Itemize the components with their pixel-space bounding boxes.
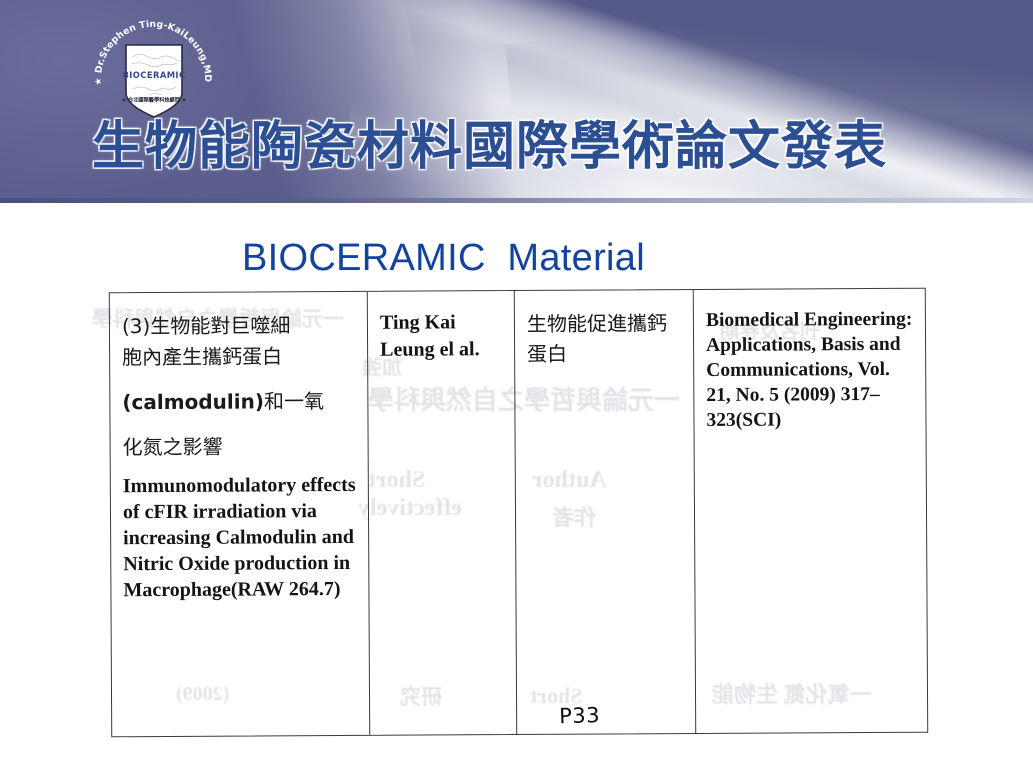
- journal-citation-text: Biomedical Engineering: Applications, Ba…: [706, 307, 916, 433]
- study-title-cn-line1: (3)生物能對巨噬細: [122, 310, 357, 342]
- study-title-cn-line4: 化氮之影響: [123, 431, 358, 463]
- slide-body: BIOCERAMIC Material 一元論與哲學之自然與科學 一元論與哲學之…: [0, 203, 1033, 773]
- banner-title: 生物能陶瓷材料國際學術論文發表: [92, 118, 992, 176]
- table-cell-authors: Ting Kai Leung el al.: [368, 291, 517, 735]
- svg-text:BIOCERAMIC: BIOCERAMIC: [122, 70, 185, 80]
- authors-text: Ting Kai Leung el al.: [380, 309, 504, 364]
- slide-title: BIOCERAMIC Material: [242, 237, 645, 280]
- publication-table: (3)生物能對巨噬細 胞內產生攜鈣蛋白 (calmodulin)和一氧 化氮之影…: [109, 288, 928, 738]
- calmodulin-term: (calmodulin): [122, 389, 264, 414]
- handwritten-page-mark: P33: [559, 703, 601, 728]
- bioceramic-shield-logo: ★ Dr.Stephen Ting-KaiLeung,MD Bioenergy …: [88, 17, 218, 129]
- study-title-cn-line3-rest: 和一氧: [264, 389, 324, 413]
- study-title-cn-line3: (calmodulin)和一氧: [122, 386, 357, 418]
- study-title-en: Immunomodulatory effects of cFIR irradia…: [123, 472, 359, 603]
- table-cell-study-title: (3)生物能對巨噬細 胞內產生攜鈣蛋白 (calmodulin)和一氧 化氮之影…: [110, 292, 370, 736]
- svg-text:★ 台北國際醫學科技顧問 ★: ★ 台北國際醫學科技顧問 ★: [122, 96, 187, 104]
- table-cell-finding: 生物能促進攜鈣蛋白 P33: [515, 290, 696, 734]
- study-title-cn-line2: 胞內產生攜鈣蛋白: [122, 341, 357, 373]
- finding-text: 生物能促進攜鈣蛋白: [527, 308, 683, 369]
- header-banner: ★ Dr.Stephen Ting-KaiLeung,MD Bioenergy …: [0, 0, 1033, 203]
- table-cell-journal-citation: Biomedical Engineering: Applications, Ba…: [694, 289, 927, 733]
- scanned-table-region: 一元論與哲學之自然與科學 一元論與哲學之自然與科學 加強 Short effec…: [100, 285, 930, 770]
